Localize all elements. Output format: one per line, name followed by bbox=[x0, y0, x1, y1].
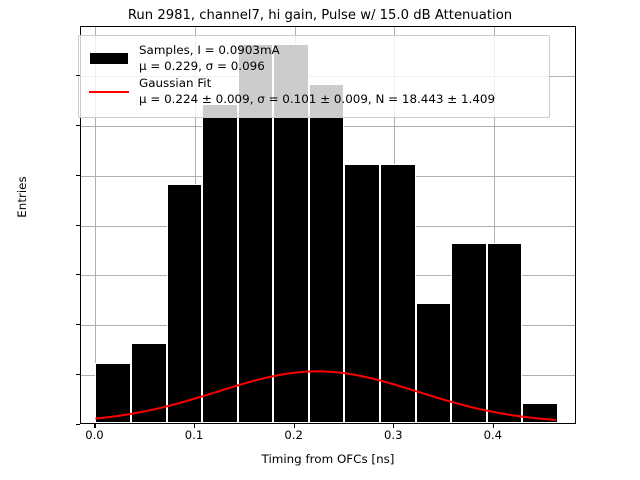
y-tick-mark bbox=[76, 424, 80, 425]
y-tick-mark bbox=[76, 274, 80, 275]
legend-fit-line1: Gaussian Fit bbox=[139, 76, 495, 92]
legend-swatch-samples bbox=[87, 46, 131, 72]
y-axis-label: Entries bbox=[15, 137, 29, 257]
legend-samples-line2: μ = 0.229, σ = 0.096 bbox=[139, 59, 280, 75]
y-tick-mark bbox=[76, 125, 80, 126]
legend-fit-line2: μ = 0.224 ± 0.009, σ = 0.101 ± 0.009, N … bbox=[139, 92, 495, 108]
y-tick-mark bbox=[76, 374, 80, 375]
legend-item-samples: Samples, I = 0.0903mA μ = 0.229, σ = 0.0… bbox=[87, 43, 541, 74]
y-tick-mark bbox=[76, 75, 80, 76]
x-tick-mark bbox=[493, 424, 494, 428]
legend-samples-line1: Samples, I = 0.0903mA bbox=[139, 43, 280, 59]
line-swatch-icon bbox=[89, 91, 129, 93]
x-tick-mark bbox=[94, 424, 95, 428]
x-tick-mark bbox=[294, 424, 295, 428]
legend: Samples, I = 0.0903mA μ = 0.229, σ = 0.0… bbox=[78, 35, 550, 118]
x-tick-label: 0.0 bbox=[85, 428, 103, 442]
fit-line-path bbox=[95, 371, 556, 420]
page-title: Run 2981, channel7, hi gain, Pulse w/ 15… bbox=[0, 8, 640, 23]
legend-swatch-fit bbox=[87, 79, 131, 105]
x-tick-label: 0.3 bbox=[384, 428, 402, 442]
x-tick-mark bbox=[194, 424, 195, 428]
legend-text-samples: Samples, I = 0.0903mA μ = 0.229, σ = 0.0… bbox=[139, 43, 280, 74]
legend-item-fit: Gaussian Fit μ = 0.224 ± 0.009, σ = 0.10… bbox=[87, 76, 541, 107]
x-tick-mark bbox=[393, 424, 394, 428]
x-axis-label: Timing from OFCs [ns] bbox=[80, 452, 576, 466]
y-tick-mark bbox=[76, 175, 80, 176]
bar-swatch-icon bbox=[90, 53, 128, 64]
y-tick-mark bbox=[76, 225, 80, 226]
x-tick-label: 0.4 bbox=[484, 428, 502, 442]
chart-figure: Run 2981, channel7, hi gain, Pulse w/ 15… bbox=[0, 0, 640, 480]
x-tick-label: 0.1 bbox=[185, 428, 203, 442]
y-tick-mark bbox=[76, 324, 80, 325]
x-tick-label: 0.2 bbox=[284, 428, 302, 442]
legend-text-fit: Gaussian Fit μ = 0.224 ± 0.009, σ = 0.10… bbox=[139, 76, 495, 107]
